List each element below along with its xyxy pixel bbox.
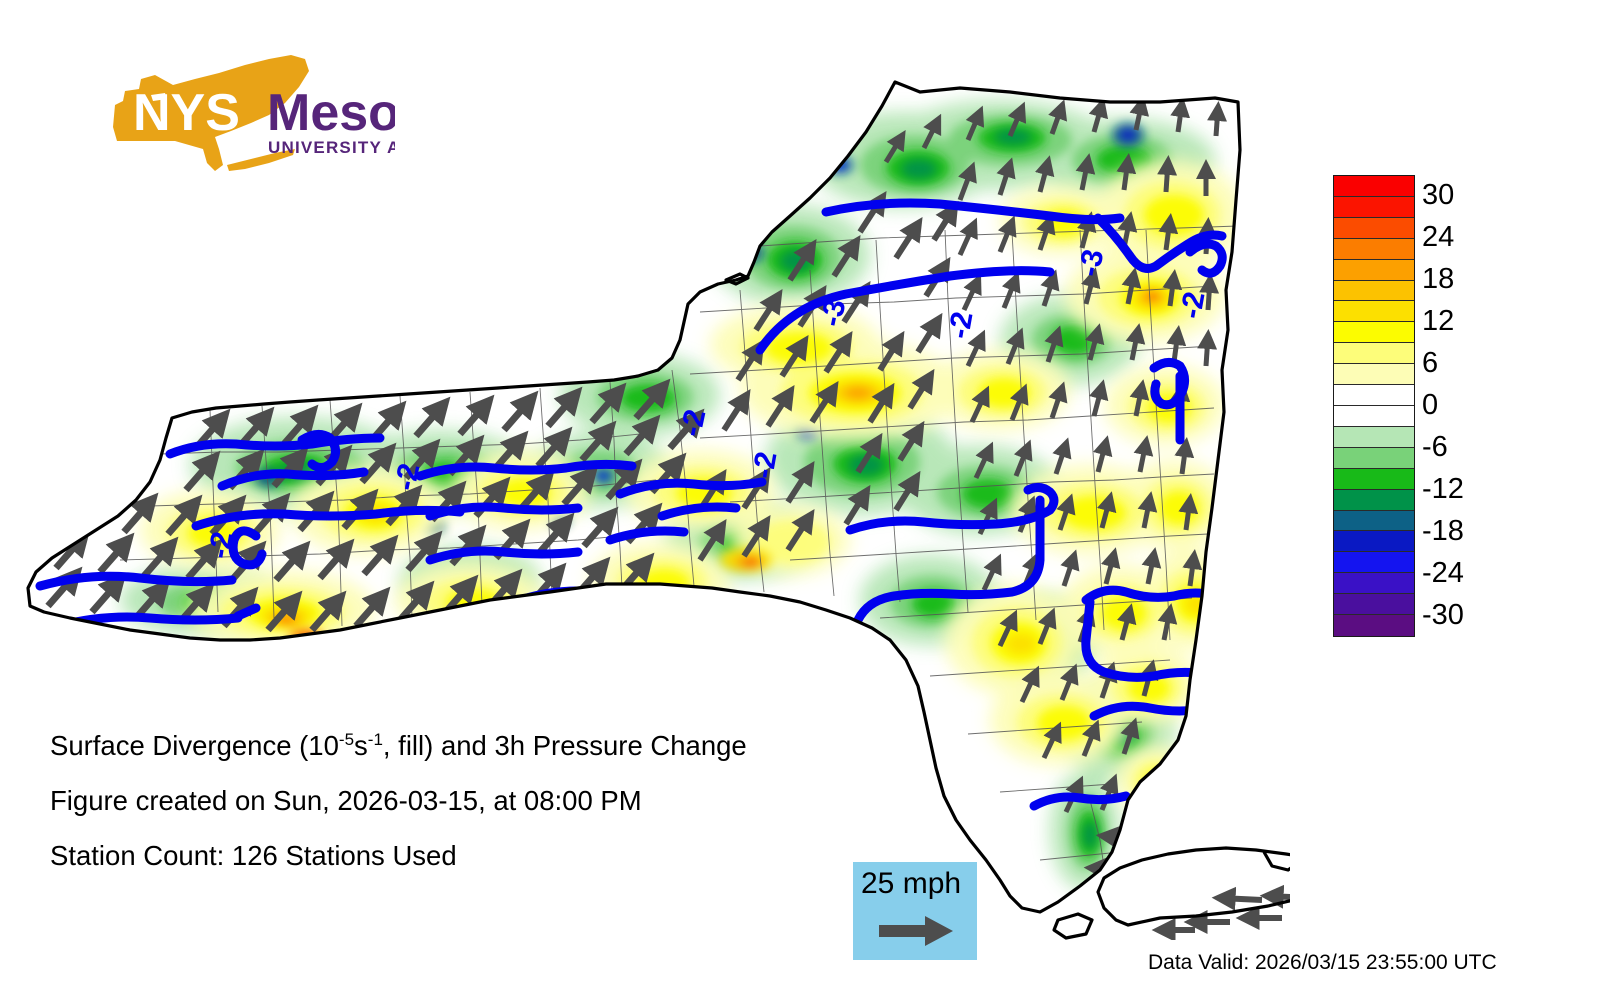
colorbar-band (1334, 615, 1414, 636)
data-valid-timestamp: Data Valid: 2026/03/15 23:55:00 UTC (1148, 950, 1497, 976)
svg-text:-2: -2 (746, 449, 783, 481)
svg-text:-2: -2 (1174, 289, 1211, 321)
colorbar-tick-label: -18 (1422, 517, 1502, 546)
long-island-wind-vectors (1160, 868, 1290, 930)
colorbar-band (1334, 239, 1414, 260)
caption-station-count: Station Count: 126 Stations Used (50, 828, 950, 883)
colorbar-tick-label: 12 (1422, 307, 1502, 336)
caption-title-suffix: , fill) and 3h Pressure Change (383, 730, 747, 761)
colorbar-tick-label: 30 (1422, 181, 1502, 210)
caption-exponent-2: -1 (368, 730, 383, 749)
colorbar-band (1334, 448, 1414, 469)
colorbar-band (1334, 364, 1414, 385)
colorbar-band (1334, 218, 1414, 239)
colorbar-tick-label: -24 (1422, 559, 1502, 588)
svg-text:-2: -2 (942, 309, 979, 341)
colorbar-band (1334, 301, 1414, 322)
colorbar-band (1334, 594, 1414, 615)
colorbar-tick-label: 18 (1422, 265, 1502, 294)
colorbar-band (1334, 511, 1414, 532)
wind-speed-key: 25 mph (853, 862, 977, 960)
colorbar-tick-label: 0 (1422, 391, 1502, 420)
colorbar-band (1334, 385, 1414, 406)
colorbar-band (1334, 322, 1414, 343)
colorbar-band (1334, 531, 1414, 552)
colorbar-tick-label: -30 (1422, 601, 1502, 630)
caption-title-prefix: Surface Divergence (10 (50, 730, 339, 761)
divergence-colorbar: 3024181260-6-12-18-24-30 (1300, 170, 1510, 650)
caption-exponent-1: -5 (339, 730, 354, 749)
colorbar-band (1334, 343, 1414, 364)
colorbar-band (1334, 573, 1414, 594)
colorbar-band (1334, 197, 1414, 218)
colorbar-band (1334, 427, 1414, 448)
colorbar-tick-label: -6 (1422, 433, 1502, 462)
svg-text:-2: -2 (202, 529, 239, 561)
colorbar-band (1334, 552, 1414, 573)
colorbar-tick-labels: 3024181260-6-12-18-24-30 (1422, 170, 1510, 642)
caption-title-mid: s (354, 730, 368, 761)
colorbar-band (1334, 176, 1414, 197)
colorbar-tick-label: 24 (1422, 223, 1502, 252)
arrow-right-icon (879, 914, 955, 948)
figure-caption: Surface Divergence (10-5s-1, fill) and 3… (50, 718, 950, 883)
colorbar-band (1334, 281, 1414, 302)
colorbar-tick-label: 6 (1422, 349, 1502, 378)
caption-title: Surface Divergence (10-5s-1, fill) and 3… (50, 718, 950, 773)
wind-key-label: 25 mph (861, 866, 961, 902)
colorbar-bands (1333, 175, 1415, 637)
colorbar-tick-label: -12 (1422, 475, 1502, 504)
colorbar-band (1334, 469, 1414, 490)
colorbar-band (1334, 490, 1414, 511)
caption-created: Figure created on Sun, 2026-03-15, at 08… (50, 773, 950, 828)
colorbar-band (1334, 406, 1414, 427)
colorbar-band (1334, 260, 1414, 281)
